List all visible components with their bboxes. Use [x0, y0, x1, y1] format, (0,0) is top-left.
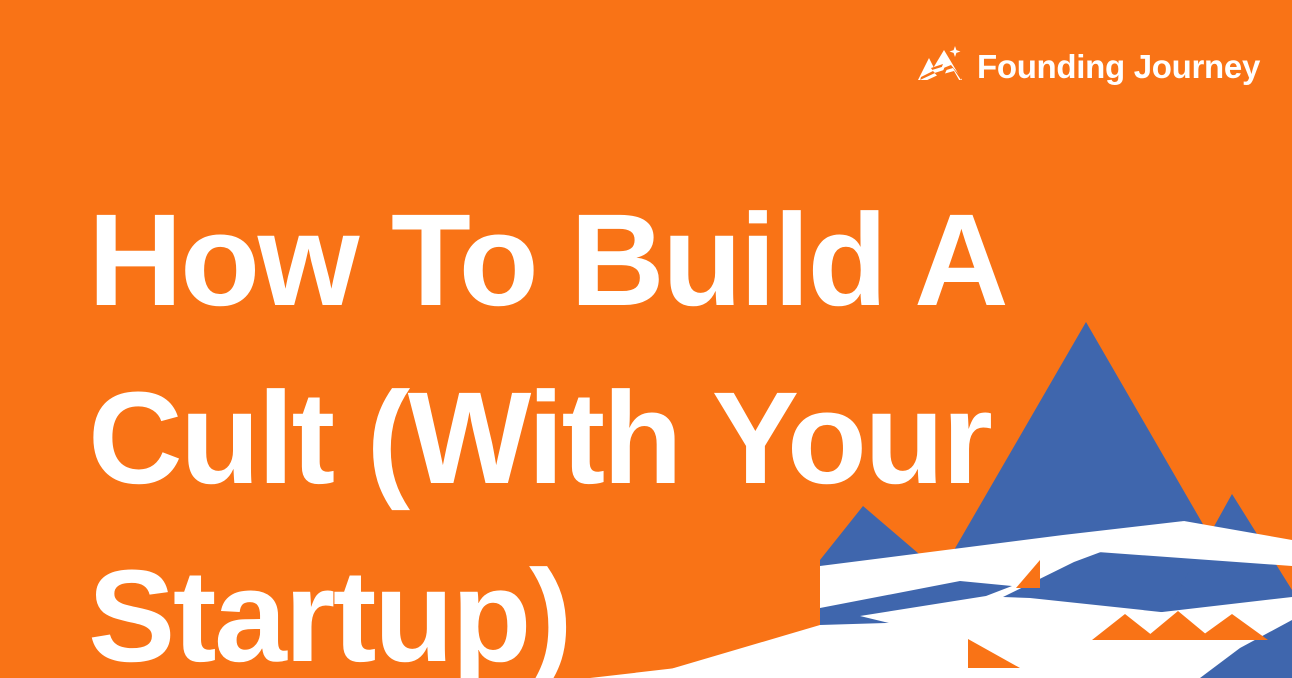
orange-accent-triangle-3	[1196, 614, 1268, 640]
right-secondary-peak	[1130, 494, 1292, 678]
headline-line-3: Startup)	[88, 527, 1006, 678]
blue-wedge-bottom-right	[1200, 620, 1292, 678]
orange-accent-triangle-row	[1092, 611, 1268, 640]
brand-lockup[interactable]: Founding Journey	[917, 44, 1260, 88]
snow-ridge-sliver	[1084, 521, 1292, 566]
headline-line-2: Cult (With Your	[88, 349, 1006, 527]
orange-accent-triangle-1	[1092, 614, 1158, 640]
page-title: How To Build A Cult (With Your Startup)	[88, 171, 1006, 678]
orange-accent-triangle-2	[1143, 611, 1213, 640]
headline-line-1: How To Build A	[88, 171, 1006, 349]
cover-canvas: Founding Journey How To Build A Cult (Wi…	[0, 0, 1292, 678]
brand-name: Founding Journey	[977, 50, 1260, 83]
orange-accent-triangle-left	[1016, 560, 1040, 588]
mountain-peak-with-path-and-sparkle-icon	[917, 44, 963, 88]
